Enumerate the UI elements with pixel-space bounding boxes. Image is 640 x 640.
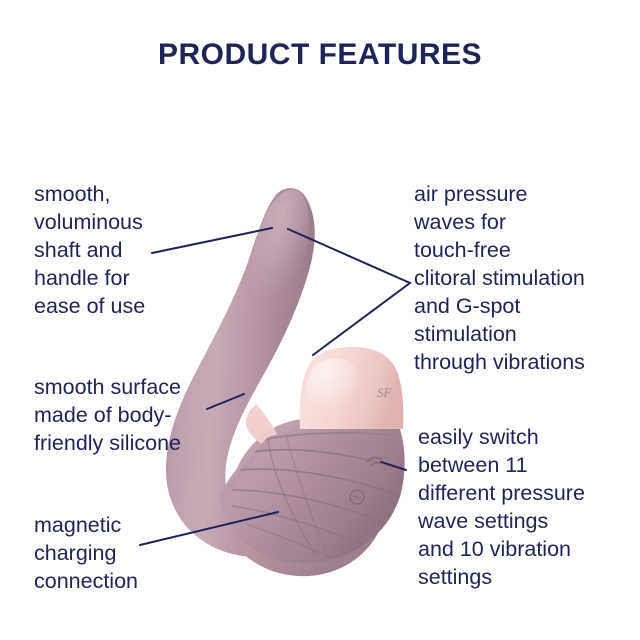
callout-charging-line-2: charging (34, 539, 138, 567)
product-ridged-body (220, 429, 405, 563)
callout-shaft-line-5: ease of use (34, 292, 145, 320)
callout-air-pressure: air pressure waves for touch-free clitor… (414, 180, 585, 376)
callout-settings-line-2: between 11 (418, 451, 585, 479)
callout-silicone: smooth surface made of body- friendly si… (34, 373, 181, 457)
callout-shaft-line-3: shaft and (34, 236, 145, 264)
shaft-highlight (240, 184, 320, 317)
callout-settings: easily switch between 11 different press… (418, 423, 585, 591)
callout-air-pressure-line-3: touch-free (414, 236, 585, 264)
leader-line-settings (381, 462, 406, 470)
pressure-wave-button[interactable] (367, 458, 382, 466)
leader-line-air-pressure (288, 229, 410, 355)
callout-air-pressure-line-4: clitoral stimulation (414, 264, 585, 292)
callout-charging: magnetic charging connection (34, 511, 138, 595)
callout-shaft: smooth, voluminous shaft and handle for … (34, 180, 145, 320)
callout-air-pressure-line-1: air pressure (414, 180, 585, 208)
callout-settings-line-6: settings (418, 563, 585, 591)
callout-air-pressure-line-5: and G-spot (414, 292, 585, 320)
callout-shaft-line-1: smooth, (34, 180, 145, 208)
callout-charging-line-3: connection (34, 567, 138, 595)
callout-air-pressure-line-2: waves for (414, 208, 585, 236)
leader-line-charging (140, 512, 278, 545)
callout-silicone-line-2: made of body- (34, 401, 181, 429)
callout-settings-line-1: easily switch (418, 423, 585, 451)
brand-logo-sf: SF (377, 385, 393, 400)
leader-line-shaft (152, 228, 272, 253)
product-base-loop (219, 419, 386, 576)
ridge-lines (232, 433, 406, 568)
callout-silicone-line-1: smooth surface (34, 373, 181, 401)
callout-air-pressure-line-6: stimulation (414, 320, 585, 348)
product-features-infographic: PRODUCT FEATURES (0, 0, 640, 640)
callout-settings-line-5: and 10 vibration (418, 535, 585, 563)
head-highlight (307, 358, 363, 414)
callout-shaft-line-2: voluminous (34, 208, 145, 236)
callout-air-pressure-line-7: through vibrations (414, 348, 585, 376)
page-title: PRODUCT FEATURES (0, 38, 640, 72)
product-head (300, 347, 404, 429)
callout-settings-line-3: different pressure (418, 479, 585, 507)
vibration-button[interactable] (350, 490, 364, 504)
callout-charging-line-1: magnetic (34, 511, 138, 539)
product-shaft (166, 188, 315, 557)
leader-line-silicone (207, 394, 244, 409)
callout-settings-line-4: wave settings (418, 507, 585, 535)
callout-shaft-line-4: handle for (34, 264, 145, 292)
callout-silicone-line-3: friendly silicone (34, 429, 181, 457)
inner-notch (246, 404, 286, 456)
